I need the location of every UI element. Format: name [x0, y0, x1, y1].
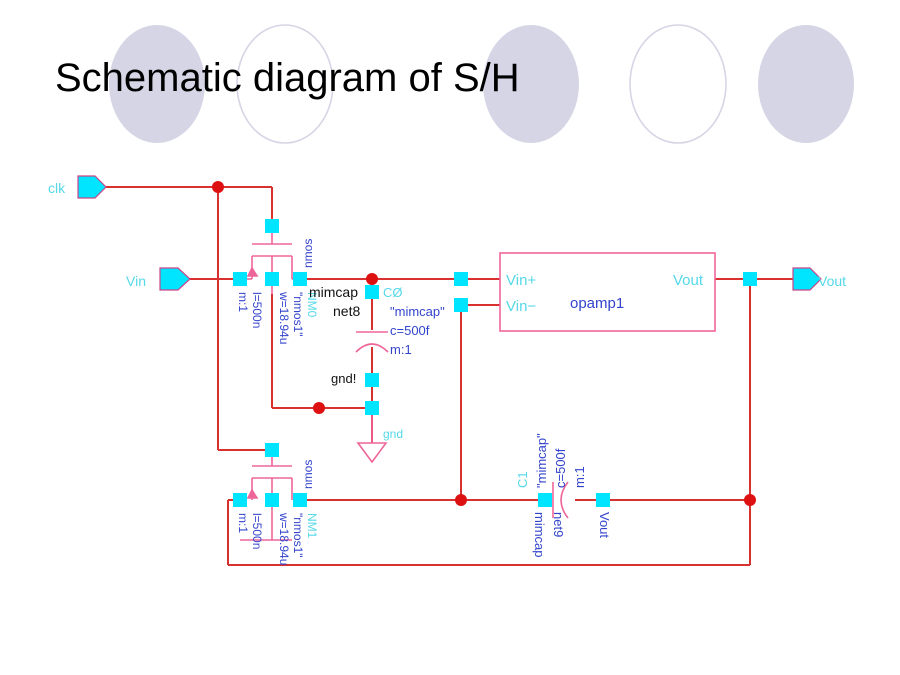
conn-nm1-gate: [265, 443, 279, 457]
conn-opamp-inminus: [454, 298, 468, 312]
junction-vout-rail: [744, 494, 756, 506]
c0-instance-label: CØ: [383, 285, 403, 300]
conn-nm0-drain: [293, 272, 307, 286]
nm0-type-label: nmos: [301, 239, 315, 268]
label-group: clk Vin Vout Vin+ Vin− Vout opamp1 m:1 l…: [48, 180, 846, 565]
opamp-box: [500, 253, 715, 331]
junction-clk: [212, 181, 224, 193]
c1-instance-label: C1: [515, 471, 530, 488]
nm1-width-label: w=18.94u: [277, 512, 291, 565]
conn-gnd-node: [365, 401, 379, 415]
conn-c1-left: [538, 493, 552, 507]
junction-feedback: [455, 494, 467, 506]
pin-clk-shape[interactable]: [78, 176, 106, 198]
conn-nm1-bulk: [265, 493, 279, 507]
opamp-inminus-label: Vin−: [506, 298, 536, 315]
nm1-type-label: nmos: [301, 460, 315, 489]
c1-model-label: "mimcap": [534, 433, 549, 488]
conn-nm0-source: [233, 272, 247, 286]
opamp-block[interactable]: [500, 253, 715, 331]
conn-c0-bottom: [365, 373, 379, 387]
gnd-triangle: [358, 443, 386, 462]
pin-clk-label: clk: [48, 180, 66, 196]
nm1-arrow: [248, 490, 257, 498]
nm0-arrow: [248, 268, 257, 276]
c1-right-net-label: Vout: [597, 512, 612, 538]
nm0-width-label: w=18.94u: [277, 291, 291, 344]
pin-vin-label: Vin: [126, 273, 146, 289]
nm1-instance-label: NM1: [305, 513, 319, 539]
pin-vout-label: Vout: [818, 273, 846, 289]
c0-mult-label: m:1: [390, 342, 412, 357]
c1-net-type-label: mimcap: [532, 512, 547, 558]
junction-group: [212, 181, 756, 506]
nm1-length-label: l=500n: [250, 513, 264, 549]
opamp-inplus-label: Vin+: [506, 272, 536, 289]
nm0-mult-label: m:1: [236, 292, 250, 312]
c0-model-label: "mimcap": [390, 304, 445, 319]
c1-net-label: net9: [551, 512, 566, 537]
c1-mult-label: m:1: [572, 466, 587, 488]
junction-gnd: [313, 402, 325, 414]
nm0-model-label: "nmos1": [291, 292, 305, 337]
schematic-diagram: clk Vin Vout Vin+ Vin− Vout opamp1 m:1 l…: [0, 0, 900, 675]
nm1-mult-label: m:1: [236, 513, 250, 533]
wire-group: [105, 187, 793, 565]
pin-vout-shape[interactable]: [793, 268, 821, 290]
conn-c0-top: [365, 285, 379, 299]
conn-vout-node: [743, 272, 757, 286]
conn-nm0-gate: [265, 219, 279, 233]
conn-opamp-inplus: [454, 272, 468, 286]
opamp-out-label: Vout: [673, 272, 704, 289]
c1-value-label: c=500f: [553, 448, 568, 488]
c0-value-label: c=500f: [390, 323, 430, 338]
conn-nm0-bulk: [265, 272, 279, 286]
conn-c1-right: [596, 493, 610, 507]
slide-canvas: Schematic diagram of S/H: [0, 0, 900, 675]
opamp-instance-label: opamp1: [570, 295, 624, 312]
conn-nm1-drain: [293, 493, 307, 507]
net8-type-label: mimcap: [309, 284, 358, 300]
junction-net8: [366, 273, 378, 285]
conn-nm1-source: [233, 493, 247, 507]
ground-symbol: [358, 408, 386, 462]
gnd-net-label: gnd!: [331, 371, 356, 386]
nm0-length-label: l=500n: [250, 292, 264, 328]
pin-group[interactable]: [78, 176, 821, 290]
pin-vin-shape[interactable]: [160, 268, 190, 290]
device-group: [240, 225, 715, 540]
net8-name-label: net8: [333, 303, 360, 319]
nm1-model-label: "nmos1": [291, 513, 305, 558]
gnd-symbol-label: gnd: [383, 427, 403, 441]
